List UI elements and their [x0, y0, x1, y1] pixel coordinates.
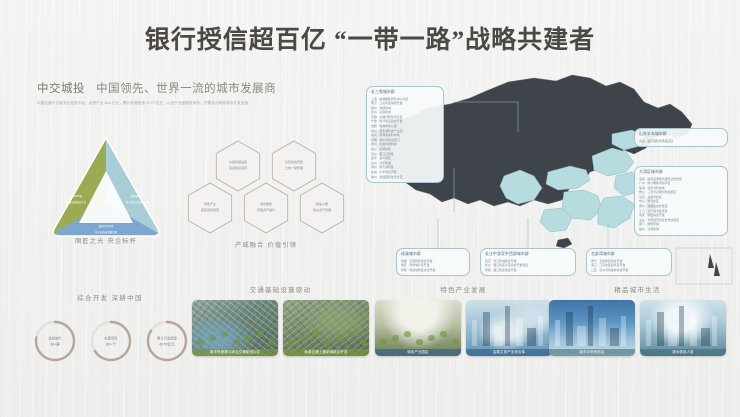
building-shape [668, 326, 677, 346]
tree-shape [416, 339, 423, 345]
tree-shape [428, 335, 435, 341]
callout-list-item: 南昌 · 赣江新区综合开发 [485, 268, 571, 273]
tree-shape [392, 335, 399, 341]
hexagon-label-line2: 物业资产管理 [313, 207, 331, 212]
callout-title: 成渝城市群 [401, 252, 465, 257]
building-shape [690, 318, 697, 346]
callout-southeast[interactable]: 大湾区城市群深圳 · 前海深港现代服务业合作区广州 · 南沙明珠湾起步区珠海 ·… [634, 166, 728, 236]
hexagon-label-line1: 交通基础设施 [229, 159, 247, 164]
brand-heading: 中交城投 中国领先、世界一流的城市发展商 [37, 80, 276, 96]
photo-row: 城市快速路与综合交通枢纽片区轨道交通上盖新城综合开发 [192, 300, 369, 356]
tree-shape [233, 339, 240, 345]
building-shape [494, 326, 503, 346]
building-shape [679, 306, 684, 346]
building-shape [712, 316, 717, 346]
building-shape [657, 312, 664, 346]
photo-caption: 会展文旅产业综合体 [466, 349, 552, 356]
building-shape [566, 312, 573, 346]
tree-shape [312, 331, 319, 337]
group-caption: 特色产业发展 [375, 285, 552, 294]
map-inset-frame [676, 248, 732, 284]
hexagon-label-line2: 存量资产提升 [257, 207, 275, 212]
hexagon-item: 城市更新存量资产提升 [244, 183, 287, 233]
building-shape [599, 318, 606, 346]
tree-shape [269, 339, 276, 345]
hexagon-label-line2: 投资建设运营 [229, 165, 247, 170]
hexagon-svg: 交通基础设施投资建设运营片区综合开发土地一级整理特色产业园区招商运营城市更新存量… [186, 136, 346, 242]
building-shape [527, 328, 536, 346]
callout-list-item: 福州 · 滨海新城 [639, 227, 723, 232]
triangle-diagram: 世界500强 中国交建成员企业 国资委直属 特大型央企控股平台 城市综合开发 全… [45, 133, 167, 243]
slide-canvas: 银行授信超百亿 “一带一路”战略共建者 中交城投 中国领先、世界一流的城市发展商… [0, 0, 740, 417]
tree-shape [360, 339, 367, 345]
photo-row: 城市中央商务区滨水精品人居 [549, 300, 726, 356]
triangle-label-right-1: 国资委直属 [131, 194, 144, 198]
callout-list-item: 绵阳 · 科技城新区综合开发 [401, 268, 465, 273]
tree-shape [440, 331, 447, 337]
callout-list-item: 青岛 · 胶东国际机场临空区 [639, 139, 723, 144]
photo-row: 特色产业园区会展文旅产业综合体 [375, 300, 552, 356]
callout-title: 北部湾城市群 [591, 252, 667, 257]
callout-title: 长江中游及中西部城市群 [485, 252, 571, 257]
callout-pearl[interactable]: 北部湾城市群南宁 · 五象新区综合开发海口 · 江东新区起步区开发三亚 · 崖州… [586, 248, 672, 276]
tree-shape [336, 335, 343, 341]
hexagon-item: 交通基础设施投资建设运营 [216, 141, 259, 191]
triangle-label-left-1: 世界500强 [70, 194, 82, 198]
photo-caption: 城市中央商务区 [549, 349, 635, 356]
tree-shape [209, 335, 216, 341]
callout-title: 山东半岛城市群 [639, 132, 723, 137]
hexagon-item: 片区综合开发土地一级整理 [272, 141, 315, 191]
building-shape [610, 328, 619, 346]
hexagon-item: 精品人居物业资产管理 [300, 183, 343, 233]
group-transport: 交通基础设施驱动城市快速路与综合交通枢纽片区轨道交通上盖新城综合开发 [192, 285, 369, 356]
tree-shape [257, 331, 264, 337]
callout-list: 青岛 · 胶东国际机场临空区 [639, 139, 723, 144]
group-city-life: 精品城市生活城市中央商务区滨水精品人居 [549, 285, 726, 356]
callout-title: 大湾区城市群 [639, 170, 723, 175]
brand-name: 中交城投 [37, 83, 85, 95]
triangle-label-bottom-1: 城市综合开发 [98, 224, 114, 228]
photo-industrial-park[interactable]: 特色产业园区 [375, 300, 461, 356]
building-shape [577, 326, 586, 346]
callout-yangtze[interactable]: 长三角城市群上海 · 前滩国际商务中心片区南京 · 江北新区综合开发杭州 · 钱… [366, 86, 444, 183]
callout-list: 深圳 · 前海深港现代服务业合作区广州 · 南沙明珠湾起步区珠海 · 唐家湾科技… [639, 177, 723, 232]
callout-title: 长三角城市群 [371, 90, 439, 95]
group-caption: 交通基础设施驱动 [192, 285, 369, 294]
tree-shape [300, 335, 307, 341]
callout-list-item: 徐州 · 淮海国际陆港片区 [371, 175, 439, 180]
building-shape [621, 316, 626, 346]
building-shape [538, 316, 543, 346]
triangle-label-bottom-2: 全产业链运营服务商 [95, 230, 118, 234]
tree-shape [288, 339, 295, 345]
tree-shape [348, 331, 355, 337]
hexagon-label-line1: 精品人居 [316, 201, 328, 206]
tree-shape [197, 339, 204, 345]
building-shape [555, 320, 560, 346]
hexagon-cluster: 交通基础设施投资建设运营片区综合开发土地一级整理特色产业园区招商运营城市更新存量… [186, 136, 346, 242]
province-highlight-hainan [556, 238, 572, 248]
building-shape [472, 320, 477, 346]
group-industry: 特色产业发展特色产业园区会展文旅产业综合体 [375, 285, 552, 356]
tree-shape [324, 339, 331, 345]
photo-caption: 轨道交通上盖新城综合开发 [283, 349, 369, 356]
photo-caption: 城市快速路与综合交通枢纽片区 [192, 349, 278, 356]
building-shape [701, 328, 710, 346]
photo-interchange[interactable]: 城市快速路与综合交通枢纽片区 [192, 300, 278, 356]
province-highlight-fujian-guangdong [598, 196, 634, 228]
group-caption: 精品城市生活 [549, 285, 726, 294]
photo-convention[interactable]: 会展文旅产业综合体 [466, 300, 552, 356]
tree-shape [221, 331, 228, 337]
callout-list: 南宁 · 五象新区综合开发海口 · 江东新区起步区开发三亚 · 崖州湾科技城综合… [591, 259, 667, 273]
building-shape [483, 312, 490, 346]
triangle-caption: 国匠之光 央企标杆 [45, 236, 167, 245]
tree-shape [380, 339, 387, 345]
callout-bohai[interactable]: 山东半岛城市群青岛 · 胶东国际机场临空区 [634, 128, 728, 147]
building-shape [646, 320, 651, 346]
china-map: 长三角城市群上海 · 前滩国际商务中心片区南京 · 江北新区综合开发杭州 · 钱… [358, 72, 740, 287]
hexagon-label-line2: 园区招商运营 [201, 207, 219, 212]
photo-waterfront[interactable]: 滨水精品人居 [640, 300, 726, 356]
tree-shape [452, 339, 459, 345]
photo-caption: 滨水精品人居 [640, 349, 726, 356]
callout-midriver[interactable]: 长江中游及中西部城市群武汉 · 长江新城综合开发长沙 · 湘江新区片区综合开发建… [480, 248, 576, 276]
photo-newtown-road[interactable]: 轨道交通上盖新城综合开发 [283, 300, 369, 356]
page-title: 银行授信超百亿 “一带一路”战略共建者 [0, 20, 740, 56]
hexagon-label-line1: 片区综合开发 [285, 159, 303, 164]
building-shape [588, 306, 593, 346]
hexagon-label-line1: 城市更新 [260, 201, 272, 206]
brand-subtext: 中国交建千亿级专业投资平台，总资产近 848 亿元，累计外围投资 4170 亿元… [37, 100, 367, 106]
building-shape [505, 306, 510, 346]
hexagon-label-line1: 特色产业 [204, 201, 216, 206]
hexagon-label-line2: 土地一级整理 [285, 165, 303, 170]
hexagon-item: 特色产业园区招商运营 [188, 183, 231, 233]
photo-strip: 交通基础设施驱动城市快速路与综合交通枢纽片区轨道交通上盖新城综合开发特色产业发展… [0, 285, 740, 380]
photo-cbd-towers[interactable]: 城市中央商务区 [549, 300, 635, 356]
tree-shape [404, 331, 411, 337]
callout-chengyu[interactable]: 成渝城市群成都 · 东部新区综合开发重庆 · 科学城片区开发绵阳 · 科技城新区… [396, 248, 470, 276]
triangle-label-right-2: 特大型央企控股平台 [126, 200, 149, 204]
tree-shape [245, 335, 252, 341]
callout-list: 上海 · 前滩国际商务中心片区南京 · 江北新区综合开发杭州 · 钱塘新城苏州 … [371, 97, 439, 180]
callout-list-item: 三亚 · 崖州湾科技城综合开发 [591, 268, 667, 273]
photo-caption: 特色产业园区 [375, 349, 461, 356]
triangle-label-left-2: 中国交建成员企业 [66, 200, 87, 204]
building-shape [516, 318, 523, 346]
brand-tagline: 中国领先、世界一流的城市发展商 [96, 83, 276, 95]
callout-list: 武汉 · 长江新城综合开发长沙 · 湘江新区片区综合开发建设南昌 · 赣江新区综… [485, 259, 571, 273]
triangle-svg: 世界500强 中国交建成员企业 国资委直属 特大型央企控股平台 城市综合开发 全… [45, 133, 167, 243]
hexagon-caption: 产城融合 价值引领 [186, 240, 346, 249]
callout-list: 成都 · 东部新区综合开发重庆 · 科学城片区开发绵阳 · 科技城新区综合开发 [401, 259, 465, 273]
